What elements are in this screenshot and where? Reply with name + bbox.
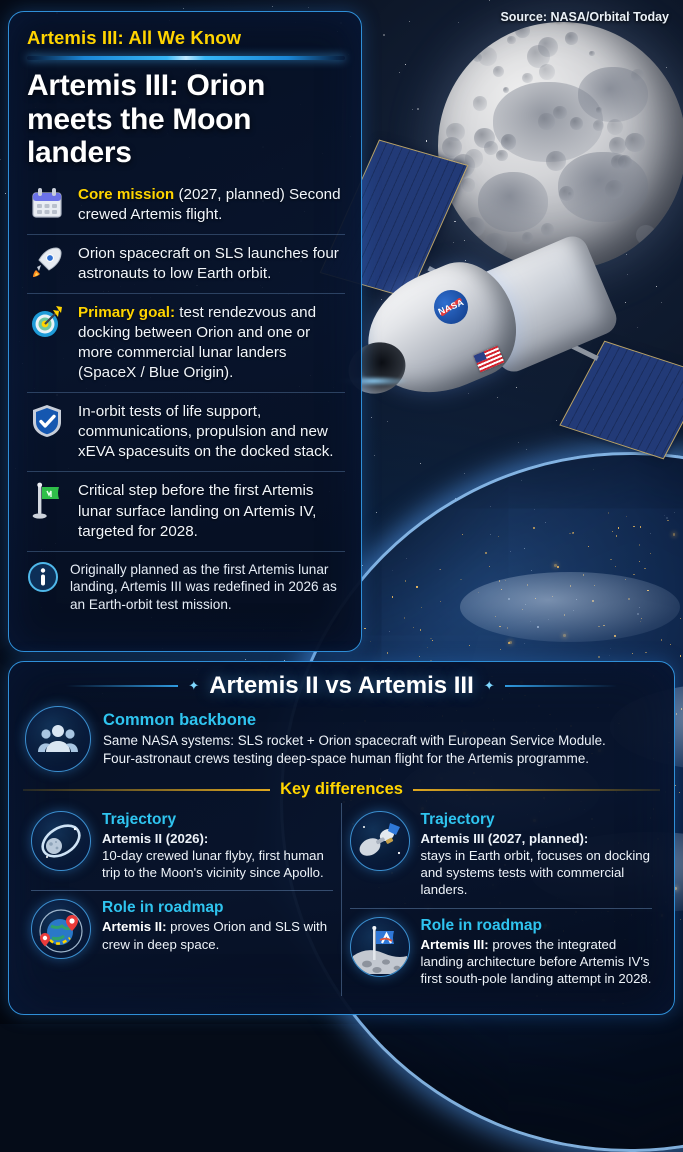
cell-heading: Trajectory [102, 811, 333, 829]
list-item-lead: Core mission [78, 186, 174, 203]
common-backbone-line-1: Same NASA systems: SLS rocket + Orion sp… [103, 732, 606, 750]
cell-bold: Artemis III (2027, planned): [421, 830, 653, 847]
spark-icon-left: ✦ [188, 678, 199, 694]
cell-bold: Artemis II: [102, 919, 167, 934]
globe-pins-icon [31, 899, 91, 959]
key-diff-line-left [23, 789, 270, 791]
list-item-text: Critical step before the first Artemis l… [78, 481, 343, 541]
moon-flag-icon [350, 917, 410, 977]
cell-text: Role in roadmap Artemis III: proves the … [421, 917, 653, 987]
cell-bold: Artemis III: [421, 937, 489, 952]
page-title: Artemis III: Orion meets the Moon lander… [27, 69, 345, 170]
calendar-icon [27, 185, 67, 220]
bullet-list: Core mission (2027, planned) Second crew… [27, 181, 345, 618]
list-item: In-orbit tests of life support, communic… [27, 392, 345, 471]
solar-array-lower [559, 341, 683, 460]
glow-divider [27, 56, 345, 60]
cell-body: 10-day crewed lunar flyby, first human t… [102, 847, 333, 881]
list-item-text: In-orbit tests of life support, communic… [78, 402, 343, 462]
list-item-text: Orion spacecraft on SLS launches four as… [78, 244, 343, 284]
shield-check-icon [27, 402, 67, 439]
list-item: Primary goal: test rendezvous and dockin… [27, 293, 345, 392]
key-differences-label: Key differences [280, 780, 403, 799]
title-line-right [505, 685, 617, 687]
orion-spacecraft-image: NASA [330, 180, 683, 510]
common-backbone-row: Common backbone Same NASA systems: SLS r… [23, 706, 660, 772]
cell-text: Role in roadmap Artemis II: proves Orion… [102, 899, 333, 952]
cell-bold: Artemis II (2026): [102, 830, 333, 847]
list-item-text: Core mission (2027, planned) Second crew… [78, 185, 343, 225]
common-backbone-text: Common backbone Same NASA systems: SLS r… [103, 711, 606, 768]
info-icon [27, 561, 59, 598]
comparison-grid: Trajectory Artemis II (2026): 10-day cre… [23, 803, 660, 996]
list-item: Trajectory Artemis II (2026): 10-day cre… [31, 803, 333, 890]
title-line-left [66, 685, 178, 687]
key-differences-divider: Key differences [23, 780, 660, 799]
cell-heading: Role in roadmap [421, 917, 653, 935]
docking-spacecraft-icon [350, 811, 410, 871]
cell-text: Trajectory Artemis III (2027, planned): … [421, 811, 653, 899]
orbit-moon-icon [31, 811, 91, 871]
cell-heading: Role in roadmap [102, 899, 333, 917]
list-item: Critical step before the first Artemis l… [27, 471, 345, 550]
column-artemis-iii: Trajectory Artemis III (2027, planned): … [342, 803, 661, 996]
list-item: Orion spacecraft on SLS launches four as… [27, 234, 345, 293]
cell-heading: Trajectory [421, 811, 653, 829]
source-attribution: Source: NASA/Orbital Today [500, 10, 669, 24]
list-item: Role in roadmap Artemis II: proves Orion… [31, 890, 333, 968]
list-item: Core mission (2027, planned) Second crew… [27, 181, 345, 234]
common-backbone-heading: Common backbone [103, 711, 606, 730]
list-item: Trajectory Artemis III (2027, planned): … [350, 803, 653, 908]
section-title-row: ✦ Artemis II vs Artemis III ✦ [23, 672, 660, 700]
section-title: Artemis II vs Artemis III [209, 672, 474, 700]
cell-body: Artemis III: proves the integrated landi… [421, 936, 653, 987]
common-backbone-line-2: Four-astronaut crews testing deep-space … [103, 750, 606, 768]
headline-line-1: Artemis III: Orion [27, 69, 345, 103]
rocket-icon [27, 244, 67, 279]
spark-icon-right: ✦ [484, 678, 495, 694]
cell-body: Artemis II: proves Orion and SLS with cr… [102, 918, 333, 952]
key-diff-line-right [413, 789, 660, 791]
note-text: Originally planned as the first Artemis … [70, 561, 343, 614]
eyebrow-label: Artemis III: All We Know [27, 27, 345, 49]
people-group-icon [25, 706, 91, 772]
target-icon [27, 303, 67, 340]
cell-text: Trajectory Artemis II (2026): 10-day cre… [102, 811, 333, 881]
note-item: Originally planned as the first Artemis … [27, 551, 345, 618]
top-info-card: Artemis III: All We Know Artemis III: Or… [8, 11, 362, 652]
cell-body: stays in Earth orbit, focuses on docking… [421, 847, 653, 898]
list-item: Role in roadmap Artemis III: proves the … [350, 908, 653, 996]
list-item-lead: Primary goal: [78, 304, 175, 321]
comparison-card: ✦ Artemis II vs Artemis III ✦ Common bac… [8, 661, 675, 1015]
headline-line-2: meets the Moon landers [27, 103, 345, 170]
column-artemis-ii: Trajectory Artemis II (2026): 10-day cre… [23, 803, 342, 996]
flag-icon [27, 481, 67, 520]
list-item-text: Primary goal: test rendezvous and dockin… [78, 303, 343, 383]
